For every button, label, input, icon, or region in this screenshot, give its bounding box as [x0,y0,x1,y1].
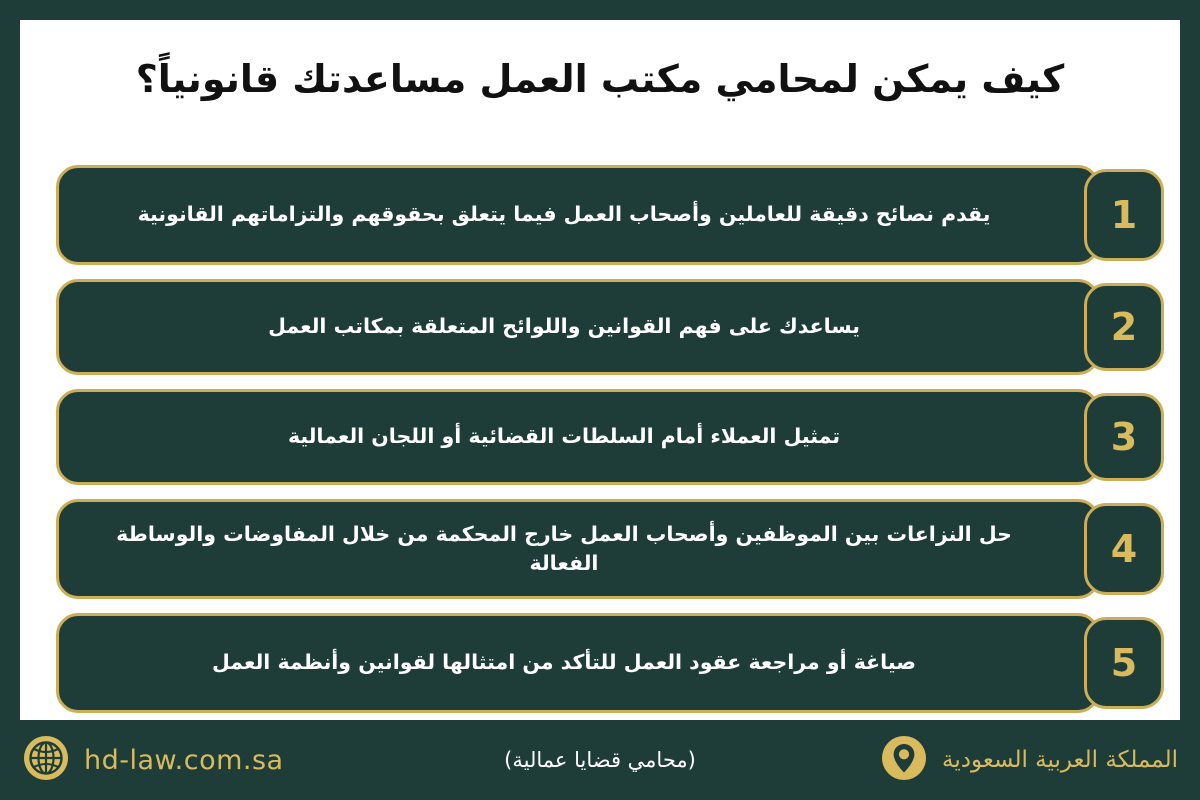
item-number: 1 [1111,196,1137,234]
item-number-badge: 2 [1084,283,1164,371]
list-item: تمثيل العملاء أمام السلطات القضائية أو ا… [36,389,1164,485]
country-label: المملكة العربية السعودية [942,747,1178,773]
item-number-badge: 5 [1084,617,1164,709]
item-text: يقدم نصائح دقيقة للعاملين وأصحاب العمل ف… [138,200,991,229]
content-canvas: كيف يمكن لمحامي مكتب العمل مساعدتك قانون… [20,20,1180,720]
item-number: 4 [1111,530,1137,568]
item-bar: حل النزاعات بين الموظفين وأصحاب العمل خا… [56,499,1100,599]
item-number: 2 [1111,308,1137,346]
page-title: كيف يمكن لمحامي مكتب العمل مساعدتك قانون… [20,56,1180,104]
item-bar: يقدم نصائح دقيقة للعاملين وأصحاب العمل ف… [56,165,1100,265]
infographic-poster: كيف يمكن لمحامي مكتب العمل مساعدتك قانون… [0,0,1200,800]
list-item: يساعدك على فهم القوانين واللوائح المتعلق… [36,279,1164,375]
item-bar: تمثيل العملاء أمام السلطات القضائية أو ا… [56,389,1100,485]
list-item: صياغة أو مراجعة عقود العمل للتأكد من امت… [36,613,1164,713]
item-text: صياغة أو مراجعة عقود العمل للتأكد من امت… [212,648,916,677]
item-number: 5 [1111,644,1137,682]
items-list: يقدم نصائح دقيقة للعاملين وأصحاب العمل ف… [36,165,1164,727]
location-pin-icon [880,734,928,786]
item-number-badge: 1 [1084,169,1164,261]
list-item: حل النزاعات بين الموظفين وأصحاب العمل خا… [36,499,1164,599]
item-text: يساعدك على فهم القوانين واللوائح المتعلق… [268,312,860,341]
item-bar: صياغة أو مراجعة عقود العمل للتأكد من امت… [56,613,1100,713]
footer-bar: hd-law.com.sa (محامي قضايا عمالية) الممل… [0,720,1200,800]
item-number-badge: 4 [1084,503,1164,595]
item-number: 3 [1111,418,1137,456]
item-text: تمثيل العملاء أمام السلطات القضائية أو ا… [288,422,840,451]
footer-country-group: المملكة العربية السعودية [880,734,1178,786]
item-bar: يساعدك على فهم القوانين واللوائح المتعلق… [56,279,1100,375]
list-item: يقدم نصائح دقيقة للعاملين وأصحاب العمل ف… [36,165,1164,265]
item-text: حل النزاعات بين الموظفين وأصحاب العمل خا… [89,520,1039,578]
item-number-badge: 3 [1084,393,1164,481]
